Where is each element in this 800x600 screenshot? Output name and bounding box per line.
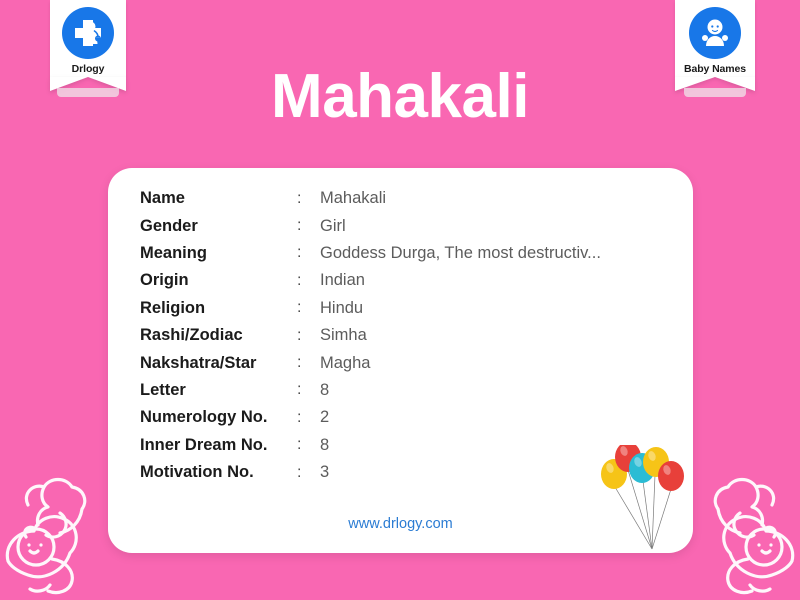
table-row: Nakshatra/Star : Magha	[140, 349, 601, 376]
baby-icon	[695, 13, 735, 53]
row-value: 3	[320, 459, 601, 486]
row-value: 8	[320, 377, 601, 404]
row-separator: :	[297, 322, 320, 349]
row-separator: :	[297, 185, 320, 212]
table-row: Religion : Hindu	[140, 295, 601, 322]
row-label: Name	[140, 185, 297, 212]
row-label: Numerology No.	[140, 404, 297, 431]
row-label: Nakshatra/Star	[140, 349, 297, 376]
row-separator: :	[297, 377, 320, 404]
row-value: Magha	[320, 349, 601, 376]
table-row: Meaning : Goddess Durga, The most destru…	[140, 240, 601, 267]
row-separator: :	[297, 459, 320, 486]
row-value: Mahakali	[320, 185, 601, 212]
row-label: Origin	[140, 267, 297, 294]
table-row: Gender : Girl	[140, 212, 601, 239]
page-title: Mahakali	[0, 60, 800, 134]
table-row: Numerology No. : 2	[140, 404, 601, 431]
baby-names-logo-circle	[689, 7, 741, 59]
row-separator: :	[297, 349, 320, 376]
row-value: 2	[320, 404, 601, 431]
balloons-icon	[595, 445, 691, 553]
row-label: Gender	[140, 212, 297, 239]
row-value: Simha	[320, 322, 601, 349]
table-body: Name : Mahakali Gender : Girl Meaning : …	[140, 185, 601, 486]
website-link[interactable]: www.drlogy.com	[108, 516, 693, 532]
row-value: Goddess Durga, The most destructiv...	[320, 240, 601, 267]
row-label: Motivation No.	[140, 459, 297, 486]
row-separator: :	[297, 295, 320, 322]
table-row: Origin : Indian	[140, 267, 601, 294]
mother-and-baby-decoration-left	[0, 475, 103, 600]
drlogy-logo-circle	[62, 7, 114, 59]
name-details-table: Name : Mahakali Gender : Girl Meaning : …	[140, 185, 601, 486]
row-separator: :	[297, 212, 320, 239]
table-row: Inner Dream No. : 8	[140, 432, 601, 459]
row-separator: :	[297, 404, 320, 431]
mother-and-baby-decoration-right	[697, 475, 800, 600]
name-details-card: Name : Mahakali Gender : Girl Meaning : …	[108, 168, 693, 553]
row-separator: :	[297, 432, 320, 459]
row-value: 8	[320, 432, 601, 459]
row-label: Letter	[140, 377, 297, 404]
row-label: Meaning	[140, 240, 297, 267]
row-value: Girl	[320, 212, 601, 239]
row-separator: :	[297, 240, 320, 267]
table-row: Letter : 8	[140, 377, 601, 404]
row-label: Rashi/Zodiac	[140, 322, 297, 349]
row-value: Indian	[320, 267, 601, 294]
row-separator: :	[297, 267, 320, 294]
row-value: Hindu	[320, 295, 601, 322]
table-row: Motivation No. : 3	[140, 459, 601, 486]
table-row: Rashi/Zodiac : Simha	[140, 322, 601, 349]
row-label: Inner Dream No.	[140, 432, 297, 459]
drlogy-medical-cross-doctor-icon	[68, 13, 108, 53]
table-row: Name : Mahakali	[140, 185, 601, 212]
row-label: Religion	[140, 295, 297, 322]
